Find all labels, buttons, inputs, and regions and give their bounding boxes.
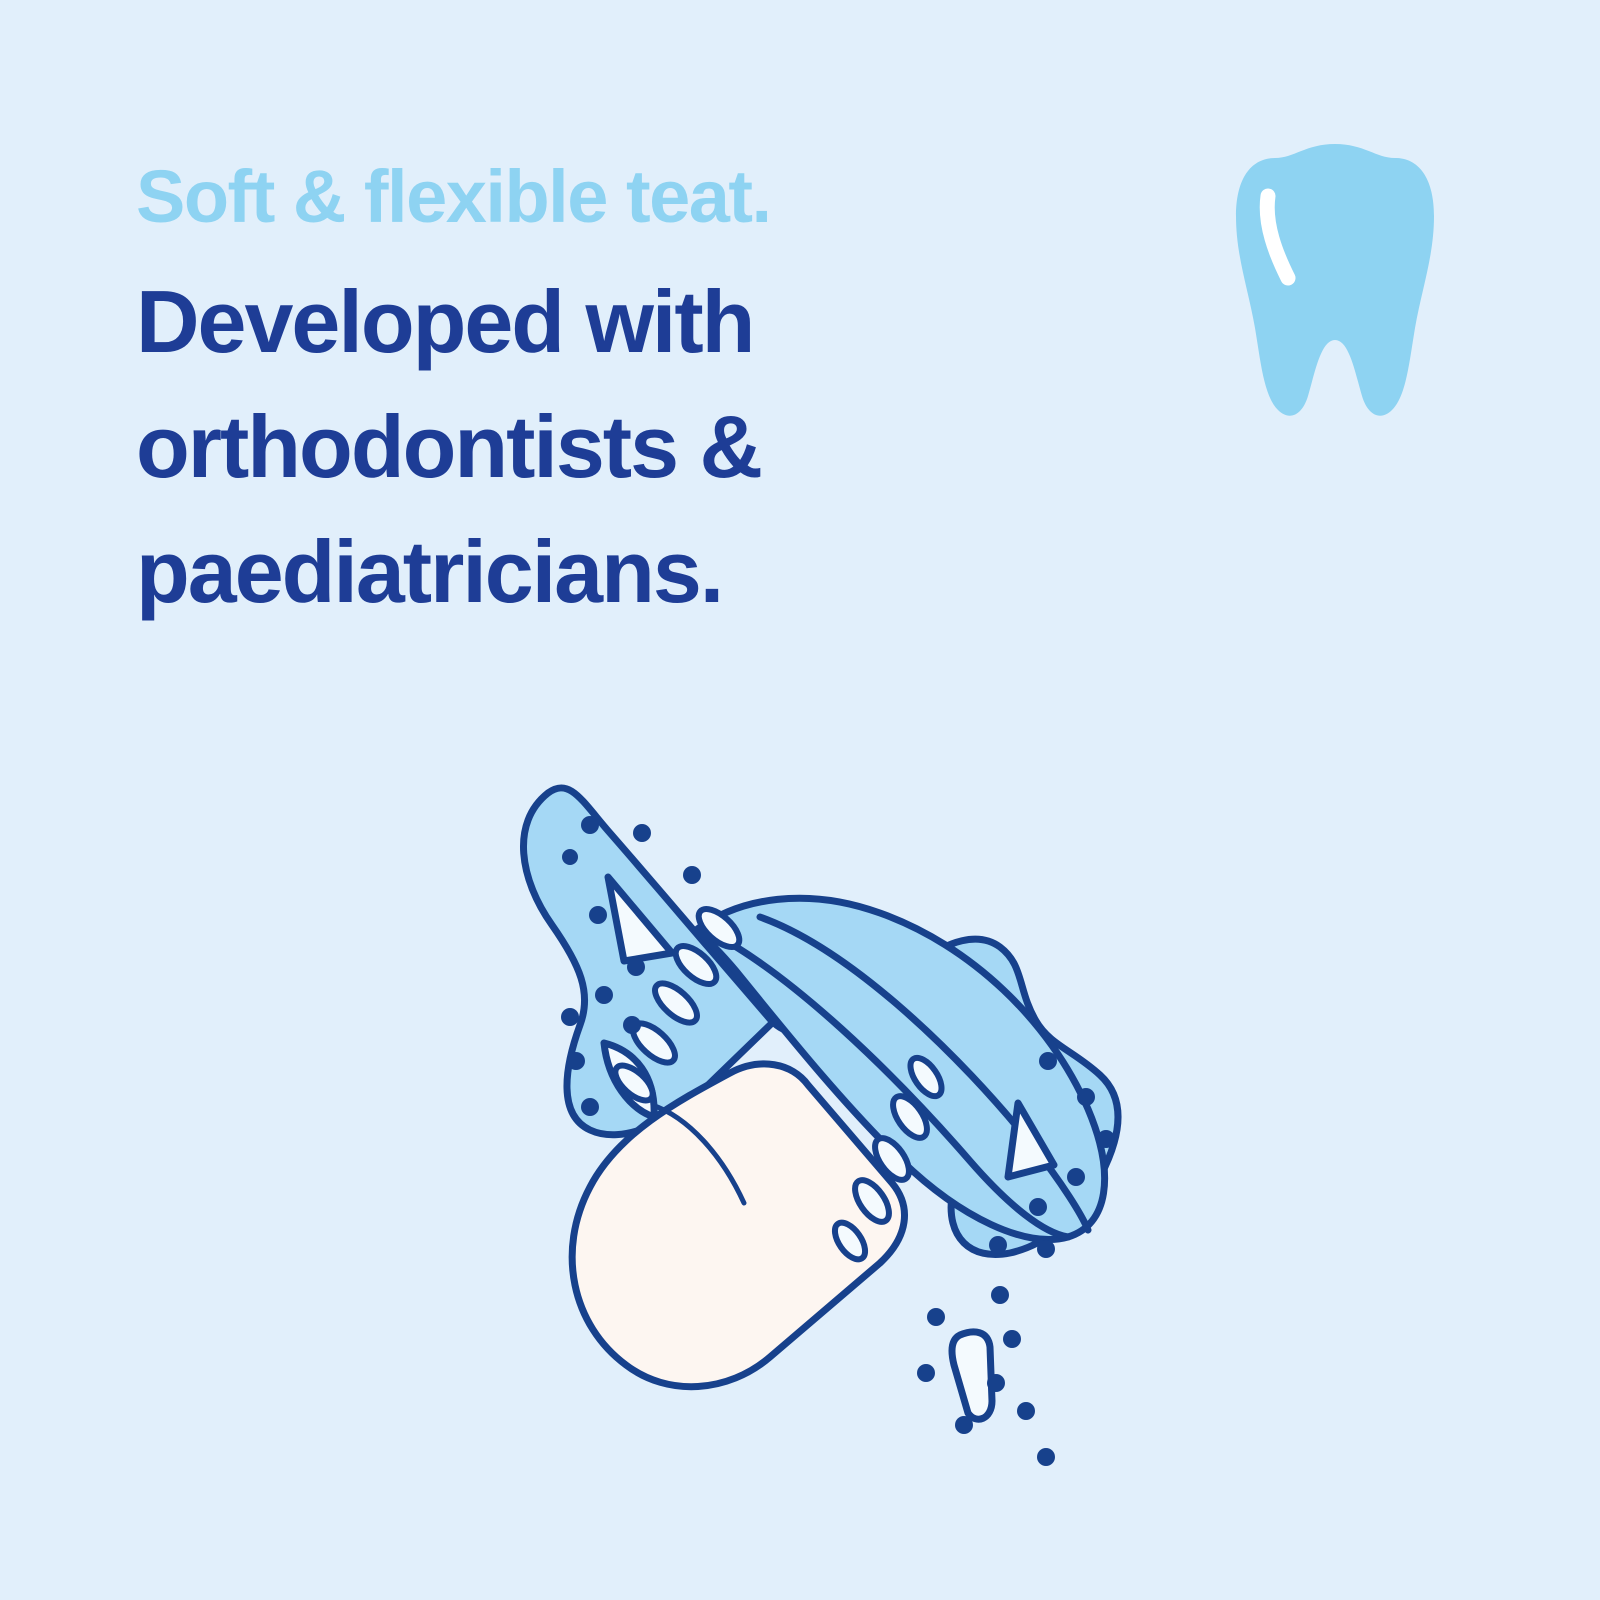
dot bbox=[989, 1236, 1007, 1254]
pacifier-illustration bbox=[440, 725, 1170, 1540]
headline-line-2: orthodontists & bbox=[136, 385, 1096, 510]
tooth-icon bbox=[1232, 138, 1438, 428]
dot bbox=[561, 1008, 579, 1026]
feature-card: Soft & flexible teat. Developed with ort… bbox=[0, 0, 1600, 1600]
page-title: Developed with orthodontists & paediatri… bbox=[136, 260, 1096, 635]
dot bbox=[1003, 1330, 1021, 1348]
eyebrow-text: Soft & flexible teat. bbox=[136, 160, 1096, 234]
dot bbox=[1037, 1240, 1055, 1258]
tooth-body bbox=[1236, 144, 1434, 416]
dot bbox=[917, 1364, 935, 1382]
dot bbox=[1077, 1088, 1095, 1106]
dot bbox=[1029, 1198, 1047, 1216]
dot bbox=[1067, 1168, 1085, 1186]
dot bbox=[1097, 1130, 1115, 1148]
dot bbox=[1039, 1052, 1057, 1070]
dot bbox=[562, 849, 578, 865]
dot bbox=[683, 866, 701, 884]
dot bbox=[955, 1416, 973, 1434]
headline-line-3: paediatricians. bbox=[136, 510, 1096, 635]
dot bbox=[581, 816, 599, 834]
dot bbox=[567, 1052, 585, 1070]
copy-block: Soft & flexible teat. Developed with ort… bbox=[136, 160, 1096, 635]
headline-line-1: Developed with bbox=[136, 260, 1096, 385]
dot bbox=[927, 1308, 945, 1326]
dot bbox=[1037, 1448, 1055, 1466]
dot bbox=[595, 986, 613, 1004]
dot bbox=[991, 1286, 1009, 1304]
dot bbox=[987, 1374, 1005, 1392]
dot bbox=[623, 1016, 641, 1034]
dot bbox=[589, 906, 607, 924]
dot bbox=[581, 1098, 599, 1116]
dot bbox=[633, 824, 651, 842]
dot bbox=[1017, 1402, 1035, 1420]
dot bbox=[627, 958, 645, 976]
teardrop-cutout-bottom bbox=[952, 1332, 992, 1419]
